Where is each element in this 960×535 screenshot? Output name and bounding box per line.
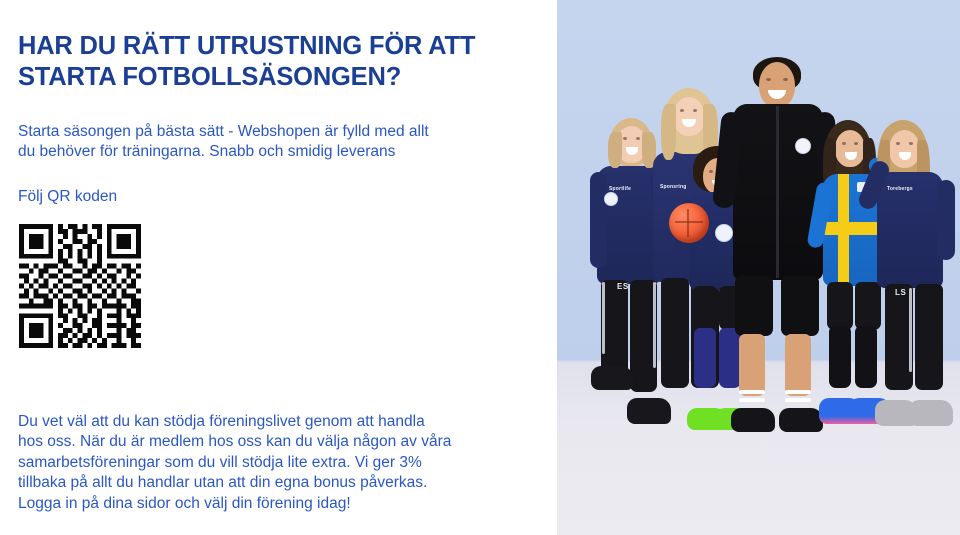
- footer-line-1: Du vet väl att du kan stödja föreningsli…: [18, 412, 533, 433]
- footer-line-4: tillbaka på allt du handlar utan att din…: [18, 473, 533, 494]
- footer-line-5: Logga in på dina sidor och välj din före…: [18, 494, 533, 515]
- team-photo: Sportlife ES Sponsring: [557, 0, 960, 535]
- footer-line-3: samarbetsföreningar som du vill stödja l…: [18, 453, 533, 474]
- lead-line-1: Starta säsongen på bästa sätt - Webshope…: [18, 122, 518, 142]
- handball-ball: [669, 203, 709, 243]
- footer-paragraph: Du vet väl att du kan stödja föreningsli…: [18, 412, 533, 515]
- kit-logo-right: Torebergs: [887, 186, 913, 192]
- text-panel: HAR DU RÄTT UTRUSTNING FÖR ATT STARTA FO…: [0, 0, 557, 535]
- page-title: HAR DU RÄTT UTRUSTNING FÖR ATT STARTA FO…: [18, 31, 528, 93]
- qr-code[interactable]: [19, 224, 141, 348]
- kit-logo-left: Sportlife: [609, 186, 631, 192]
- headline-line-1: HAR DU RÄTT UTRUSTNING FÖR ATT: [18, 31, 528, 62]
- pant-text-ls: LS: [895, 288, 906, 297]
- qr-caption: Följ QR koden: [18, 187, 117, 207]
- pant-text-es: ES: [617, 282, 629, 291]
- headline-line-2: STARTA FOTBOLLSÄSONGEN?: [18, 62, 528, 93]
- qr-code-canvas[interactable]: [19, 224, 141, 348]
- lead-paragraph: Starta säsongen på bästa sätt - Webshope…: [18, 122, 518, 162]
- lead-line-2: du behöver för träningarna. Snabb och sm…: [18, 142, 518, 162]
- ad-banner: HAR DU RÄTT UTRUSTNING FÖR ATT STARTA FO…: [0, 0, 960, 535]
- footer-line-2: hos oss. När du är medlem hos oss kan du…: [18, 432, 533, 453]
- kit-logo-coach: Sponsring: [660, 184, 687, 190]
